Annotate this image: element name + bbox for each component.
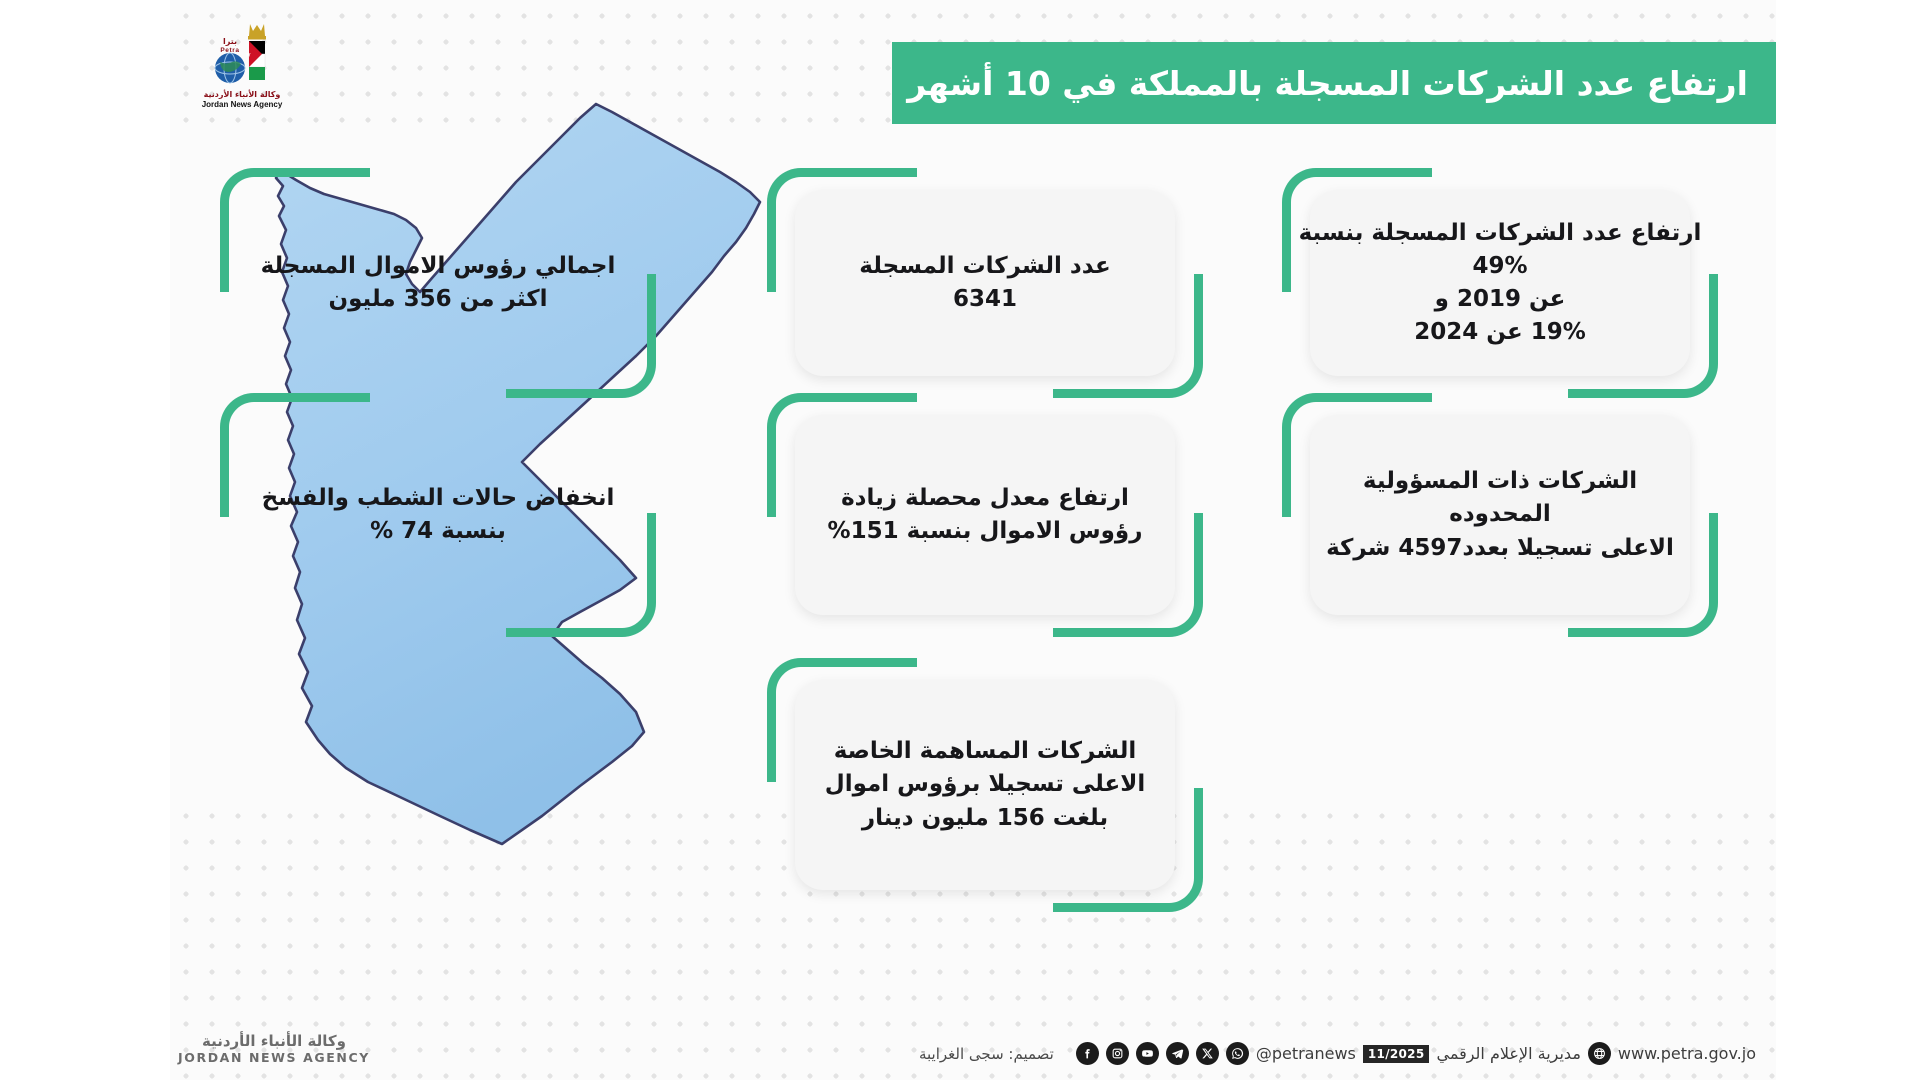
petra-logo-icon: بترا Petra وكالة الأنباء الأردنية Jordan…	[182, 18, 302, 122]
designer-credit: تصميم: سجى الغرايبة	[919, 1045, 1054, 1063]
svg-text:بترا: بترا	[223, 37, 237, 46]
card-line: 19% عن 2024	[1414, 316, 1586, 349]
card-value: الاعلى تسجيلا بعدد4597 شركة	[1326, 532, 1674, 565]
footer-agency-en: JORDAN NEWS AGENCY	[178, 1050, 370, 1066]
card-line: عن 2019 و	[1435, 283, 1566, 316]
card-line: انخفاض حالات الشطب والفسخ	[262, 482, 615, 515]
instagram-icon[interactable]	[1106, 1042, 1129, 1065]
globe-icon	[1588, 1042, 1611, 1065]
youtube-icon[interactable]	[1136, 1042, 1159, 1065]
card-registered-companies-count[interactable]: عدد الشركات المسجلة 6341	[795, 190, 1175, 376]
card-private-shareholding-companies[interactable]: الشركات المساهمة الخاصة الاعلى تسجيلا بر…	[795, 680, 1175, 890]
svg-text:Jordan News Agency: Jordan News Agency	[202, 100, 283, 109]
date-badge: 11/2025	[1363, 1045, 1430, 1063]
svg-text:Petra: Petra	[220, 47, 239, 54]
footer-agency-mark: وكالة الأنباء الأردنية JORDAN NEWS AGENC…	[178, 1032, 370, 1066]
social-handle[interactable]: @petranews	[1256, 1044, 1356, 1063]
card-total-registered-capital[interactable]: اجمالي رؤوس الاموال المسجلة اكثر من 356 …	[248, 190, 628, 376]
design-canvas: بترا Petra وكالة الأنباء الأردنية Jordan…	[170, 0, 1776, 1080]
card-body: ارتفاع معدل محصلة زيادة رؤوس الاموال بنس…	[795, 415, 1175, 615]
footer-social-bar: تصميم: سجى الغرايبة	[919, 1042, 1756, 1065]
card-value: 6341	[953, 283, 1017, 316]
footer-agency-ar: وكالة الأنباء الأردنية	[178, 1032, 370, 1051]
telegram-icon[interactable]	[1166, 1042, 1189, 1065]
card-limited-liability-companies[interactable]: الشركات ذات المسؤولية المحدوده الاعلى تس…	[1310, 415, 1690, 615]
card-body: عدد الشركات المسجلة 6341	[795, 190, 1175, 376]
card-body: ارتفاع عدد الشركات المسجلة بنسبة 49% عن …	[1310, 190, 1690, 376]
card-line: اكثر من 356 مليون	[329, 283, 548, 316]
card-line: ارتفاع معدل محصلة زيادة	[841, 482, 1129, 515]
card-cancellations-decline[interactable]: انخفاض حالات الشطب والفسخ بنسبة 74 %	[248, 415, 628, 615]
card-line: عدد الشركات المسجلة	[859, 250, 1110, 283]
card-value: بنسبة 74 %	[370, 515, 506, 548]
svg-text:وكالة الأنباء الأردنية: وكالة الأنباء الأردنية	[204, 89, 281, 99]
card-line: الشركات المساهمة الخاصة	[834, 735, 1137, 768]
card-line: اجمالي رؤوس الاموال المسجلة	[261, 250, 616, 283]
card-body: الشركات المساهمة الخاصة الاعلى تسجيلا بر…	[795, 680, 1175, 890]
footer: وكالة الأنباء الأردنية JORDAN NEWS AGENC…	[170, 1018, 1776, 1080]
department-label: مديرية الإعلام الرقمي	[1436, 1044, 1580, 1063]
card-value: 49%	[1472, 250, 1527, 283]
card-capital-increase-rate[interactable]: ارتفاع معدل محصلة زيادة رؤوس الاموال بنس…	[795, 415, 1175, 615]
card-line: الاعلى تسجيلا برؤوس اموال	[825, 768, 1146, 801]
x-twitter-icon[interactable]	[1196, 1042, 1219, 1065]
card-line: المحدوده	[1449, 498, 1550, 531]
page-title-banner: ارتفاع عدد الشركات المسجلة بالمملكة في 1…	[892, 42, 1776, 124]
card-body: اجمالي رؤوس الاموال المسجلة اكثر من 356 …	[248, 190, 628, 376]
facebook-icon[interactable]	[1076, 1042, 1099, 1065]
card-value: رؤوس الاموال بنسبة 151%	[828, 515, 1143, 548]
card-body: الشركات ذات المسؤولية المحدوده الاعلى تس…	[1310, 415, 1690, 615]
website-url[interactable]: www.petra.gov.jo	[1618, 1044, 1756, 1063]
infographic-root: بترا Petra وكالة الأنباء الأردنية Jordan…	[0, 0, 1920, 1080]
card-line: الشركات ذات المسؤولية	[1363, 465, 1637, 498]
card-line: ارتفاع عدد الشركات المسجلة بنسبة	[1299, 217, 1702, 250]
petra-logo: بترا Petra وكالة الأنباء الأردنية Jordan…	[182, 18, 302, 122]
whatsapp-icon[interactable]	[1226, 1042, 1249, 1065]
page-title: ارتفاع عدد الشركات المسجلة بالمملكة في 1…	[907, 67, 1748, 100]
card-value: بلغت 156 مليون دينار	[862, 802, 1108, 835]
card-registration-increase-percentage[interactable]: ارتفاع عدد الشركات المسجلة بنسبة 49% عن …	[1310, 190, 1690, 376]
card-body: انخفاض حالات الشطب والفسخ بنسبة 74 %	[248, 415, 628, 615]
